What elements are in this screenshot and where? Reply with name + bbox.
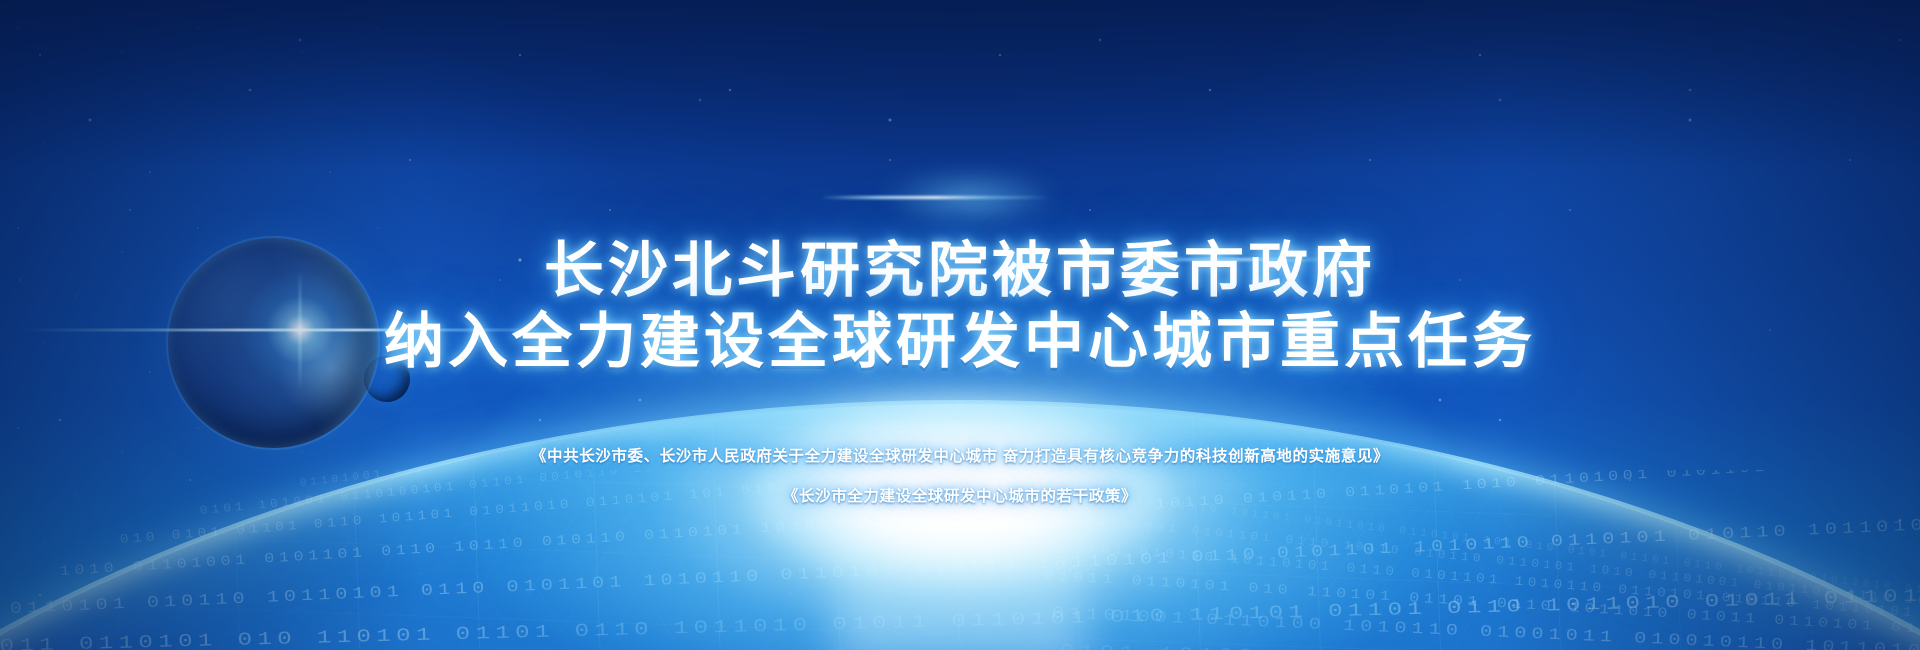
banner-subtitle-2: 《长沙市全力建设全球研发中心城市的若干政策》 [531, 484, 1389, 506]
banner-content: 长沙北斗研究院被市委市政府 纳入全力建设全球研发中心城市重点任务 《中共长沙市委… [0, 0, 1920, 650]
banner-title-line-2: 纳入全力建设全球研发中心城市重点任务 [384, 307, 1536, 378]
banner-subtitles: 《中共长沙市委、长沙市人民政府关于全力建设全球研发中心城市 奋力打造具有核心竞争… [531, 444, 1389, 506]
banner-title-line-1: 长沙北斗研究院被市委市政府 [384, 236, 1536, 307]
banner-subtitle-1: 《中共长沙市委、长沙市人民政府关于全力建设全球研发中心城市 奋力打造具有核心竞争… [531, 444, 1389, 466]
hero-banner: 01101001 0110100 1010110 01001011 010010… [0, 0, 1920, 650]
banner-title: 长沙北斗研究院被市委市政府 纳入全力建设全球研发中心城市重点任务 [384, 236, 1536, 378]
